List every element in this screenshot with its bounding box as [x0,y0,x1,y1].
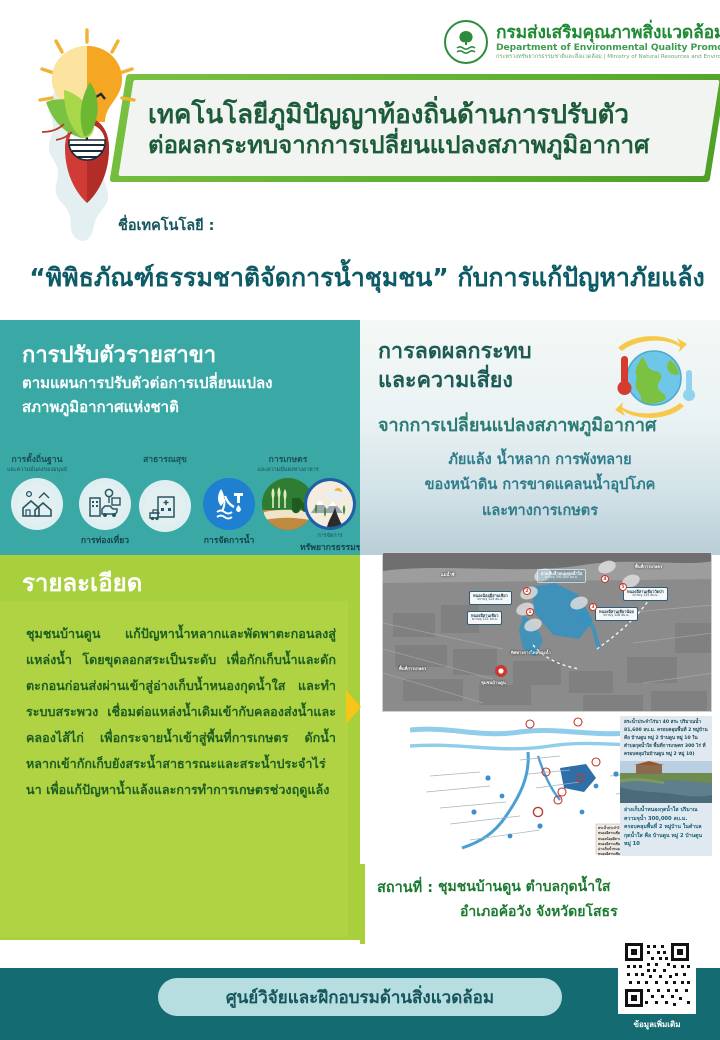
details-body: ชุมชนบ้านดูน แก้ปัญหาน้ำหลากและพัดพาตะกอ… [26,621,336,803]
footer-text: ศูนย์วิจัยและฝึกอบรมด้านสิ่งแวดล้อม [226,984,494,1011]
sector-label-settlement: การตั้งถิ่นฐาน [6,452,68,466]
org-ministry: กระทรวงทรัพยากรธรรมชาติและสิ่งแวดล้อม | … [496,54,720,60]
mitigation-heading-line2: และความเสี่ยง [378,368,513,393]
map-side-note-2: อ่างเก็บน้ำหนองกุดน้ำใส ปริมาณความจุน้ำ … [620,803,712,851]
mitigation-panel: การลดผลกระทบ และความเสี่ยง จากการเปลี่ยน… [360,320,720,555]
sector-label-public-health: สาธารณสุข [134,452,196,466]
sector-item-natural-resources[interactable]: การจัดการ ทรัพยากรธรรมชาติ [300,478,360,554]
sector-label-natural-resources: ทรัพยากรธรรมชาติ [300,540,360,554]
deqp-logo: กรมส่งเสริมคุณภาพสิ่งแวดล้อม Department … [444,20,720,64]
poster-root: กรมส่งเสริมคุณภาพสิ่งแวดล้อม Department … [0,0,720,1040]
tree-water-emblem-icon [444,20,488,64]
mitigation-body-line2: ของหน้าดิน การขาดแคลนน้ำอุปโภค [425,477,656,493]
title-line-2: ต่อผลกระทบจากการเปลี่ยนแปลงสภาพภูมิอากาศ [148,131,708,160]
map-side-notes: สระน้ำประจำไร่นา 40 สระ ปริมาณน้ำ 81,600… [620,716,712,856]
aerial-callout-num-3[interactable]: 3 [589,603,597,611]
details-title: รายละเอียด [22,563,142,602]
aerial-callout-3[interactable]: หนองอีสานเขียวน้อย ความจุ 128 ลบ.ม. [595,607,638,621]
sector-label-tourism: การท่องเที่ยว [66,533,144,547]
sector-sublabel-agriculture: และความมั่นคงทางอาหาร [254,466,322,474]
lightbulb-leaf-pin-icon [12,28,162,213]
aerial-callout-2[interactable]: หนองน้อยอีสานเขียว ความจุ 124 ลบ.ม. [469,591,512,605]
natural-resources-mountain-icon [304,478,356,530]
tourism-city-car-icon [79,478,131,530]
settlement-houses-icon [11,478,63,530]
sector-sublabel-natural-resources: การจัดการ [300,532,360,540]
deqp-wordmark: กรมส่งเสริมคุณภาพสิ่งแวดล้อม Department … [496,24,720,60]
org-name-th: กรมส่งเสริมคุณภาพสิ่งแวดล้อม [496,24,720,43]
sector-label-water: การจัดการน้ำ [190,533,268,547]
footer-pill[interactable]: ศูนย์วิจัยและฝึกอบรมด้านสิ่งแวดล้อม [158,978,562,1016]
mitigation-body-line3: และทางการเกษตร [482,503,598,519]
aerial-callout-num-2[interactable]: 2 [523,587,531,595]
title-line-1: เทคโนโลยีภูมิปัญญาท้องถิ่นด้านการปรับตัว [148,100,708,132]
aerial-callout-num-5[interactable]: 5 [619,583,627,591]
mitigation-heading: การลดผลกระทบ และความเสี่ยง [378,338,531,395]
map-side-note-1: สระน้ำประจำไร่นา 40 สระ ปริมาณน้ำ 81,600… [620,716,712,761]
aerial-callout-5[interactable]: หนองอีสานเขียววัดป่า ความจุ 125 ลบ.ม. [623,587,668,601]
sector-item-public-health[interactable]: สาธารณสุข [134,452,196,532]
adaptation-subheading-line1: ตามแผนการปรับตัวต่อการเปลี่ยนแปลง [22,374,273,392]
sector-sublabel-settlement: และความมั่นคงของมนุษย์ [6,466,68,474]
technology-label: ชื่อเทคโนโลยี : [118,214,214,237]
aerial-callout-num-1[interactable]: 1 [526,608,534,616]
location-label: สถานที่ : [377,876,433,899]
aerial-label-village: ชุมชนบ้านดูน [481,679,506,686]
details-panel: รายละเอียด ชุมชนบ้านดูน แก้ปัญหาน้ำหลากแ… [0,555,360,940]
aerial-callout-4[interactable]: อ่างเก็บน้ำหนองกุดน้ำใส ความจุ 300,000 ล… [537,569,586,583]
sector-item-tourism[interactable]: การท่องเที่ยว [66,478,144,547]
water-management-tap-icon [203,478,255,530]
sector-item-settlement[interactable]: การตั้งถิ่นฐาน และความมั่นคงของมนุษย์ [6,452,68,530]
aerial-label-farm-left: พื้นที่การเกษตร [399,665,426,672]
mitigation-body: ภัยแล้ง น้ำหลาก การพังทลาย ของหน้าดิน กา… [370,448,710,524]
location-line-1: ชุมชนบ้านดูน ตำบลกุดน้ำใส [438,876,610,898]
sector-label-agriculture: การเกษตร [254,452,322,466]
qr-code-icon[interactable] [618,936,696,1014]
aerial-label-farm-right: พื้นที่การเกษตร [635,563,662,570]
aerial-callout-1[interactable]: หนองอีสานเขียว ความจุ 125 ลบ.ม. [467,611,502,625]
mitigation-heading-line1: การลดผลกระทบ [378,339,531,364]
technology-name: “พิพิธภัณฑ์ธรรมชาติจัดการน้ำชุมชน” กับกา… [22,258,712,298]
sector-icons-row: การตั้งถิ่นฐาน และความมั่นคงของมนุษย์ [0,452,360,552]
page-title: เทคโนโลยีภูมิปัญญาท้องถิ่นด้านการปรับตัว… [148,84,708,176]
adaptation-subheading-line2: สภาพภูมิอากาศแห่งชาติ [22,398,179,416]
globe-thermometer-icon [598,332,706,424]
org-name-en: Department of Environmental Quality Prom… [496,43,720,53]
mitigation-body-line1: ภัยแล้ง น้ำหลาก การพังทลาย [448,452,631,468]
location-accent-bar [360,864,365,944]
aerial-callout-num-4[interactable]: 4 [601,575,609,583]
location-line-2: อำเภอค้อวัง จังหวัดยโสธร [460,901,618,923]
aerial-photo[interactable]: แม่น้ำชี พื้นที่การเกษตร พื้นที่การเกษตร… [382,552,712,712]
public-health-hospital-icon [139,480,191,532]
qr-caption: ข้อมูลเพิ่มเติม [618,1018,696,1031]
aerial-label-river: แม่น้ำชี [441,561,455,580]
details-arrow-icon [346,690,361,724]
reservoir-photo [620,761,712,803]
adaptation-subheading: ตามแผนการปรับตัวต่อการเปลี่ยนแปลง สภาพภู… [22,372,352,419]
aerial-label-flow: ทิศทางการไหลของน้ำ [511,649,551,656]
adaptation-heading: การปรับตัวรายสาขา [22,337,216,372]
